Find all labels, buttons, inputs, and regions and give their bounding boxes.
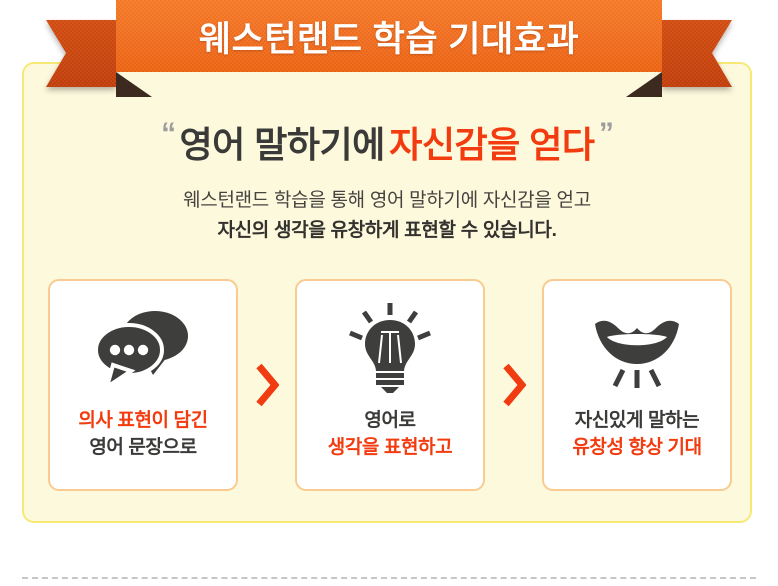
close-quote-icon: ” xyxy=(599,117,613,150)
benefit-card-2-line-1: 영어로 xyxy=(328,407,452,434)
chevron-right-icon-1 xyxy=(250,362,284,408)
benefit-card-1-text: 의사 표현이 담긴 영어 문장으로 xyxy=(78,407,207,461)
description-line-1: 웨스턴랜드 학습을 통해 영어 말하기에 자신감을 얻고 xyxy=(22,186,752,216)
benefit-card-2-line-2: 생각을 표현하고 xyxy=(328,434,452,461)
headline-text-highlight: 자신감을 얻다 xyxy=(389,124,594,165)
mouth-speaking-icon xyxy=(585,287,689,407)
lightbulb-icon xyxy=(338,287,442,407)
benefit-cards-row: 의사 표현이 담긴 영어 문장으로 xyxy=(48,279,732,491)
headline-text-dark: 영어 말하기에 xyxy=(180,124,385,165)
benefit-card-2-text: 영어로 생각을 표현하고 xyxy=(328,407,452,461)
description-line-2: 자신의 생각을 유창하게 표현할 수 있습니다. xyxy=(22,216,752,246)
benefit-card-1[interactable]: 의사 표현이 담긴 영어 문장으로 xyxy=(48,279,238,491)
benefit-card-1-line-2: 영어 문장으로 xyxy=(78,434,207,461)
description-block: 웨스턴랜드 학습을 통해 영어 말하기에 자신감을 얻고 자신의 생각을 유창하… xyxy=(22,186,752,246)
benefit-card-3-line-1: 자신있게 말하는 xyxy=(572,407,701,434)
benefit-card-2[interactable]: 영어로 생각을 표현하고 xyxy=(295,279,485,491)
benefit-card-1-line-1: 의사 표현이 담긴 xyxy=(78,407,207,434)
headline-quote: “ 영어 말하기에 자신감을 얻다 ” xyxy=(22,116,752,168)
benefit-card-3[interactable]: 자신있게 말하는 유창성 향상 기대 xyxy=(542,279,732,491)
speech-bubbles-icon xyxy=(91,287,195,407)
chevron-right-icon-2 xyxy=(497,362,531,408)
benefit-card-3-line-2: 유창성 향상 기대 xyxy=(572,434,701,461)
benefit-card-3-text: 자신있게 말하는 유창성 향상 기대 xyxy=(572,407,701,461)
open-quote-icon: “ xyxy=(161,117,175,150)
bottom-divider xyxy=(22,577,756,581)
